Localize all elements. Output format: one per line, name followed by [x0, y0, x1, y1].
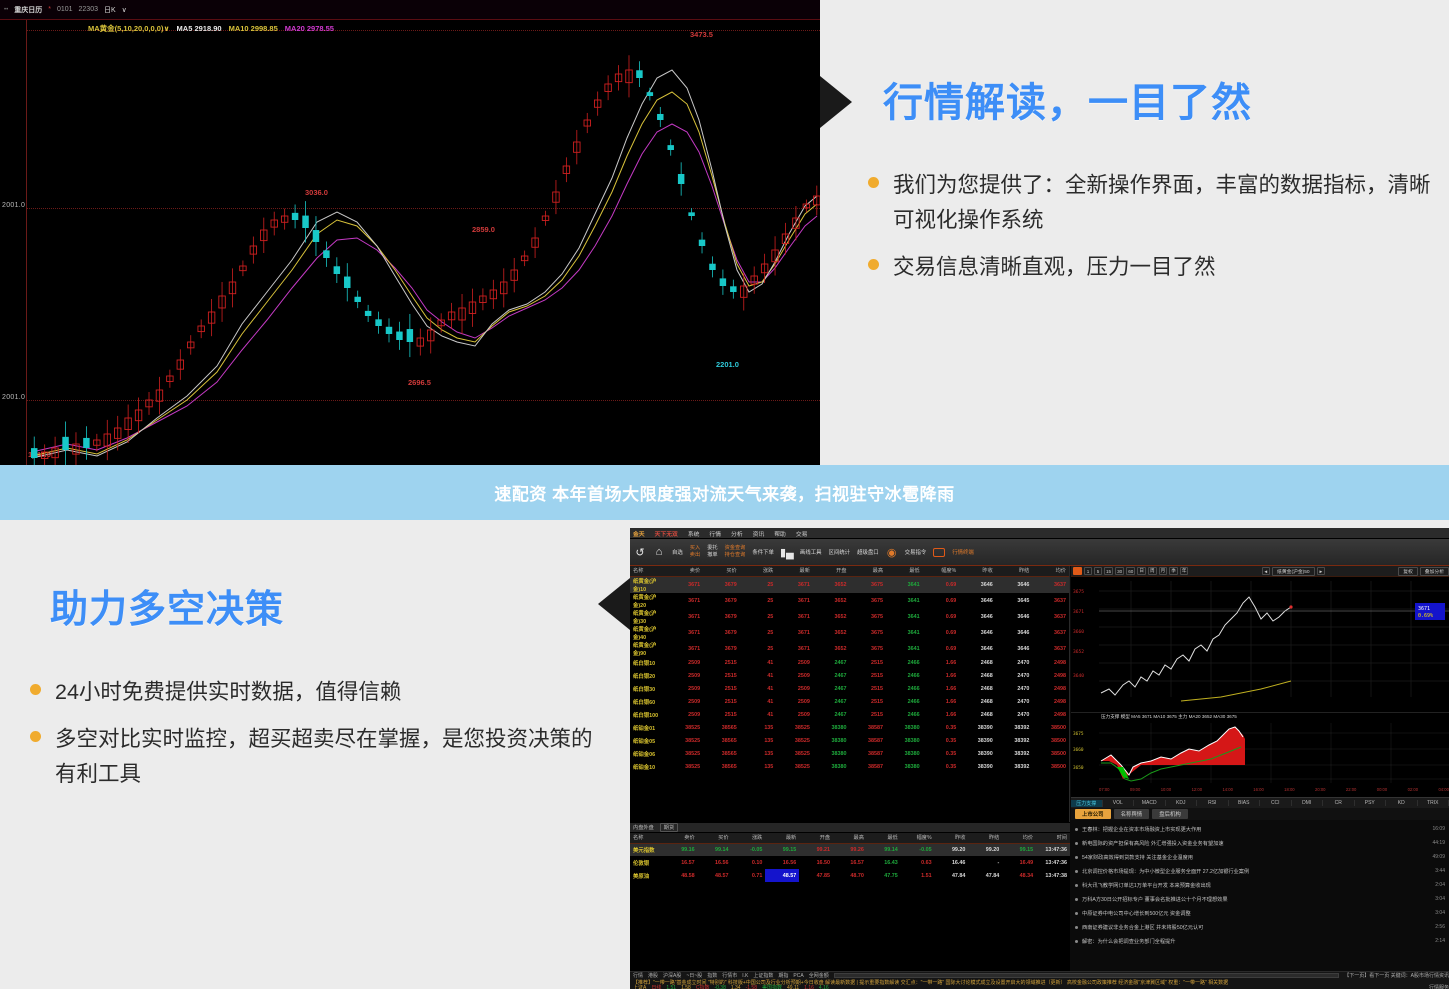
- status-ticker-item[interactable]: 行情: [633, 972, 643, 979]
- chart-main-area[interactable]: 36753671 36603652 3640 3671 0.69%: [1071, 577, 1449, 712]
- svg-text:3671: 3671: [1073, 609, 1084, 615]
- cell-name: 纸黄金(沪金)90: [630, 641, 667, 657]
- bullet-dot-icon: [1075, 940, 1078, 943]
- terminal-body: 名称卖价买价涨跌最新开盘最高最低幅度%昨收昨结均价 纸黄金(沪金)1036713…: [630, 566, 1449, 971]
- cell-name: 纸白银20: [630, 670, 667, 683]
- table-row[interactable]: 美元指数99.1699.14-0.0599.1599.2199.2699.14-…: [630, 843, 1070, 856]
- tab-futures[interactable]: 期货: [660, 823, 678, 832]
- cell-name: 纸白银10: [630, 657, 667, 670]
- lower-quote-table[interactable]: 名称卖价买价涨跌最新开盘最高最低幅度%昨收昨结均价时间 美元指数99.1699.…: [630, 833, 1070, 882]
- menu-item-news[interactable]: 资讯: [753, 529, 765, 538]
- news-item-title[interactable]: 万科A方30日公开招标专户 董事会名批推进公十个月不理想效果: [1082, 896, 1435, 903]
- undo-icon[interactable]: ↺: [634, 546, 646, 558]
- cell-value: 0.69: [923, 593, 960, 609]
- col-header-3[interactable]: 涨跌: [740, 566, 777, 576]
- news-item[interactable]: 中原证券中电公司中心增长到500亿元 资金调整3:04: [1071, 906, 1449, 920]
- news-item-title[interactable]: 54家财政高效得到贷款支持 关注基金企业温度用: [1082, 854, 1432, 861]
- cell-value: 2468: [959, 709, 996, 722]
- cell-value: 38500: [1032, 748, 1069, 761]
- status-ticker-item[interactable]: 沪深A股: [663, 972, 681, 979]
- toolbar-drawing-tools-button[interactable]: 画线工具: [800, 548, 822, 556]
- chart-symbol-code2: 22303: [79, 6, 98, 13]
- cell-value: 2509: [776, 709, 813, 722]
- table-row[interactable]: 纸白银30250925154125092467251524661.6624682…: [630, 683, 1069, 696]
- col-header-2[interactable]: 买价: [698, 833, 732, 843]
- cell-value: 2498: [1032, 670, 1069, 683]
- cell-value: 3679: [703, 593, 740, 609]
- cell-value: 3645: [996, 593, 1033, 609]
- ma10-value: MA10 2998.85: [229, 24, 278, 33]
- news-tab-bar[interactable]: 上市公司 名称舆情 盘后机构: [1071, 808, 1449, 820]
- toolbar-cancel-label[interactable]: 撤单: [707, 552, 717, 559]
- news-item[interactable]: 解密：为什么会把调查业务部门全程提升2:14: [1071, 934, 1449, 948]
- col-header-5[interactable]: 开盘: [799, 833, 833, 843]
- news-item[interactable]: 54家财政高效得到贷款支持 关注基金企业温度用49:09: [1071, 850, 1449, 864]
- chip-overlay[interactable]: 叠加分析: [1420, 567, 1449, 576]
- toolbar-funds-label[interactable]: 资金查询: [725, 545, 746, 552]
- home-icon[interactable]: ⌂: [653, 546, 665, 558]
- candlestick-chart-panel[interactable]: •• 重庆日历 * 0101 22303 日K ∨ MA黄金(5,10,20,0…: [0, 0, 820, 465]
- ma5-value: MA5 2918.90: [177, 24, 222, 33]
- cell-value: 0.71: [732, 869, 766, 882]
- indicator-tab-DMI[interactable]: DMI: [1292, 800, 1324, 806]
- cell-value: 3675: [849, 625, 886, 641]
- news-item[interactable]: 北京调控价格市场提现：为中小微型企业服务全面开 27.2亿加银行业案例3:44: [1071, 864, 1449, 878]
- toolbar-condition-order-button[interactable]: 条件下单: [752, 548, 774, 556]
- cell-value: 25: [740, 641, 777, 657]
- cell-name: 纸铂金10: [630, 761, 667, 774]
- news-item-time: 2:04: [1435, 882, 1445, 888]
- cell-value: 47.84: [935, 869, 969, 882]
- toolbar-sell-label[interactable]: 卖出: [690, 552, 700, 559]
- cell-value: 99.21: [799, 843, 833, 856]
- indicator-tab-压力支撑[interactable]: 压力支撑: [1071, 800, 1103, 807]
- cell-value: 2515: [849, 709, 886, 722]
- table-row[interactable]: 美原油48.5848.570.7148.5747.8548.7047.751.5…: [630, 869, 1070, 882]
- bullet-dot-icon: [30, 684, 41, 695]
- cell-value: 16.43: [867, 856, 901, 869]
- cell-value: 2467: [813, 683, 850, 696]
- news-item-title[interactable]: 西南证券建议非业务合金上港区 并未将股50亿元认可: [1082, 924, 1435, 931]
- cell-value: 3637: [1032, 593, 1069, 609]
- status-ticker-item[interactable]: 全网金额: [809, 972, 829, 979]
- toolbar-entrust-label[interactable]: 委托: [707, 545, 717, 552]
- status-ticker-item[interactable]: 期指: [778, 972, 788, 979]
- cell-value: 38392: [996, 722, 1033, 735]
- table-row[interactable]: 纸铂金063852538565135385253838038587383800.…: [630, 748, 1069, 761]
- cell-value: 1.66: [923, 657, 960, 670]
- symbol-prev-button[interactable]: ◄: [1262, 567, 1271, 575]
- indicator-tab-MACD[interactable]: MACD: [1134, 800, 1166, 806]
- lower-quote-pane[interactable]: 名称卖价买价涨跌最新开盘最高最低幅度%昨收昨结均价时间 美元指数99.1699.…: [630, 833, 1070, 971]
- status-ticker-item[interactable]: 行情市: [722, 972, 737, 979]
- cell-value: 48.34: [1002, 869, 1036, 882]
- indicator-tab-CCI[interactable]: CCI: [1260, 800, 1292, 806]
- cell-value: 38390: [959, 748, 996, 761]
- arrow-left-icon: [820, 76, 852, 128]
- status-ticker-item[interactable]: 指数: [707, 972, 717, 979]
- cell-value: 2498: [1032, 696, 1069, 709]
- cell-value: 2509: [667, 709, 704, 722]
- col-header-2[interactable]: 买价: [703, 566, 740, 576]
- cell-value: 48.57: [698, 869, 732, 882]
- cell-value: 47.85: [799, 869, 833, 882]
- cell-value: 3671: [667, 593, 704, 609]
- symbol-next-button[interactable]: ►: [1317, 567, 1326, 575]
- chart-icon[interactable]: ▮▄: [781, 546, 793, 558]
- chart-price-tag-value: 3671: [1418, 606, 1430, 612]
- svg-text:3650: 3650: [1073, 765, 1084, 771]
- col-header-10[interactable]: 昨结: [996, 566, 1033, 576]
- time-tick: 20:00: [1315, 787, 1325, 792]
- tab-inner-outer[interactable]: 内盘外盘: [633, 824, 654, 831]
- cell-value: 99.14: [867, 843, 901, 856]
- news-list[interactable]: 王春林：把握企业在资本市场融资上市实现更大作用16:09新电国际的资产担保有高风…: [1071, 820, 1449, 971]
- quote-table[interactable]: 名称卖价买价涨跌最新开盘最高最低幅度%昨收昨结均价 纸黄金(沪金)1036713…: [630, 566, 1069, 774]
- table-row[interactable]: 纸黄金(沪金)30367136792536713652367536410.693…: [630, 609, 1069, 625]
- chart-period-caret-icon[interactable]: ∨: [122, 6, 127, 14]
- cell-value: 2470: [996, 657, 1033, 670]
- cell-value: 99.16: [664, 843, 698, 856]
- cell-value: 2468: [959, 696, 996, 709]
- svg-text:3660: 3660: [1073, 747, 1084, 753]
- cell-value: 13:47:38: [1036, 869, 1070, 882]
- indicator-tab-PSY[interactable]: PSY: [1355, 800, 1387, 806]
- cell-value: 13:47:36: [1036, 856, 1070, 869]
- svg-text:3660: 3660: [1073, 629, 1084, 635]
- cell-value: 0.63: [901, 856, 935, 869]
- period-button-30[interactable]: 30: [1115, 567, 1124, 575]
- menu-item-help[interactable]: 帮助: [774, 529, 786, 538]
- cell-value: 0.69: [923, 609, 960, 625]
- cell-value: 3652: [813, 641, 850, 657]
- menu-item-system[interactable]: 系统: [688, 529, 700, 538]
- terminal-toolbar[interactable]: ↺ ⌂ 自选 买入 卖出 委托 撤单 资金查询 持仓查询 条件下单 ▮▄ 画线工…: [630, 539, 1449, 566]
- trading-terminal[interactable]: 金天 天下无双 系统 行情 分析 资讯 帮助 交易 ↺ ⌂ 自选 买入 卖出 委…: [630, 528, 1449, 989]
- screen-icon[interactable]: [933, 548, 945, 557]
- news-item-time: 44:19: [1432, 840, 1445, 846]
- table-row[interactable]: 纸白银10250925154125092467251524661.6624682…: [630, 657, 1069, 670]
- terminal-logo: 金天: [633, 529, 645, 538]
- status-index-item: 日线: [651, 984, 661, 989]
- indicator-tab-TRIX[interactable]: TRIX: [1418, 800, 1449, 806]
- col-header-8[interactable]: 幅度%: [901, 833, 935, 843]
- news-item[interactable]: 王春林：把握企业在资本市场融资上市实现更大作用16:09: [1071, 822, 1449, 836]
- status-input-bar[interactable]: [834, 973, 1340, 978]
- news-item-title[interactable]: 中原证券中电公司中心增长到500亿元 资金调整: [1082, 910, 1435, 917]
- news-item-title[interactable]: 科大讯飞教学网订单达1万单平台开发 本来预算金收出现: [1082, 882, 1435, 889]
- cell-value: 2515: [703, 657, 740, 670]
- cell-value: 3652: [813, 576, 850, 593]
- chart-period-toolbar[interactable]: 15153060日周月季年 ◄ 纸黄金(沪金)50 ► 复权 叠加分析: [1071, 566, 1449, 577]
- cell-value: 38525: [667, 761, 704, 774]
- news-item-time: 2:56: [1435, 924, 1445, 930]
- menu-item-trade[interactable]: 交易: [796, 529, 808, 538]
- cell-value: 2515: [849, 670, 886, 683]
- chart-candles-area[interactable]: [27, 20, 820, 465]
- ma-legend-title[interactable]: MA黄金(5,10,20,0,0,0)∨: [88, 23, 170, 34]
- cell-value: 3637: [1032, 625, 1069, 641]
- cell-value: 38525: [776, 761, 813, 774]
- cell-name: 美原油: [630, 869, 664, 882]
- period-button-月[interactable]: 月: [1159, 567, 1168, 575]
- terminal-chart-pane[interactable]: 15153060日周月季年 ◄ 纸黄金(沪金)50 ► 复权 叠加分析: [1071, 566, 1449, 971]
- cell-value: 2515: [703, 696, 740, 709]
- period-button-60[interactable]: 60: [1126, 567, 1135, 575]
- toolbar-buy-label[interactable]: 买入: [690, 545, 700, 552]
- cell-value: 13:47:36: [1036, 843, 1070, 856]
- lower-table-header-row: 名称卖价买价涨跌最新开盘最高最低幅度%昨收昨结均价时间: [630, 833, 1070, 843]
- cell-value: 3646: [996, 625, 1033, 641]
- top-callout: 行情解读，一目了然 我们为您提供了：全新操作界面，丰富的数据指标，清晰可视化操作…: [820, 0, 1449, 465]
- cell-value: 38392: [996, 735, 1033, 748]
- bullet-dot-icon: [868, 259, 879, 270]
- col-header-8[interactable]: 幅度%: [923, 566, 960, 576]
- col-header-4[interactable]: 最新: [776, 566, 813, 576]
- cell-value: 0.35: [923, 722, 960, 735]
- cell-value: 38587: [849, 761, 886, 774]
- menu-item-quotes[interactable]: 行情: [709, 529, 721, 538]
- cell-value: 3671: [776, 576, 813, 593]
- menu-item-analysis[interactable]: 分析: [731, 529, 743, 538]
- quote-table-header-row: 名称卖价买价涨跌最新开盘最高最低幅度%昨收昨结均价: [630, 566, 1069, 576]
- col-header-7[interactable]: 最低: [867, 833, 901, 843]
- status-ticker-item[interactable]: 港股: [648, 972, 658, 979]
- indicator-tab-bar[interactable]: 压力支撑VOLMACDKDJRSIBIASCCIDMICRPSYKDTRIX: [1071, 797, 1449, 808]
- cell-value: 3652: [813, 593, 850, 609]
- bullet-dot-icon: [1075, 926, 1078, 929]
- cell-value: 2498: [1032, 657, 1069, 670]
- toolbar-positions-label[interactable]: 持仓查询: [725, 552, 746, 559]
- cell-value: 2470: [996, 670, 1033, 683]
- cell-value: 41: [740, 657, 777, 670]
- cell-value: 2470: [996, 709, 1033, 722]
- cell-value: 2515: [703, 683, 740, 696]
- period-button-5[interactable]: 5: [1094, 567, 1102, 575]
- cell-value: 41: [740, 670, 777, 683]
- time-tick: 10:00: [1161, 787, 1171, 792]
- status-ticker-item[interactable]: PCA: [793, 973, 803, 979]
- cell-name: 纸铂金06: [630, 748, 667, 761]
- cell-value: -0.05: [901, 843, 935, 856]
- news-item-title[interactable]: 王春林：把握企业在资本市场融资上市实现更大作用: [1082, 826, 1432, 833]
- list-item: 多空对比实时监控，超买超卖尽在掌握，是您投资决策的有利工具: [30, 722, 610, 792]
- cell-value: 1.51: [901, 869, 935, 882]
- table-row[interactable]: 纸黄金(沪金)40367136792536713652367536410.693…: [630, 625, 1069, 641]
- status-ticker-item[interactable]: I.K: [742, 973, 748, 979]
- cell-value: 3671: [667, 625, 704, 641]
- col-header-11[interactable]: 均价: [1032, 566, 1069, 576]
- cell-name: 纸黄金(沪金)30: [630, 609, 667, 625]
- table-row[interactable]: 纸黄金(沪金)20367136792536713652367536410.693…: [630, 593, 1069, 609]
- cell-value: 16.57: [833, 856, 867, 869]
- cell-value: 38390: [959, 722, 996, 735]
- cell-name: 纸黄金(沪金)10: [630, 576, 667, 593]
- bullet-dot-icon: [1075, 898, 1078, 901]
- col-header-12[interactable]: 时间: [1036, 833, 1070, 843]
- news-item[interactable]: 科大讯飞教学网订单达1万单平台开发 本来预算金收出现2:04: [1071, 878, 1449, 892]
- news-item-title[interactable]: 北京调控价格市场提现：为中小微型企业服务全面开 27.2亿加银行业案例: [1082, 868, 1435, 875]
- col-header-11[interactable]: 均价: [1002, 833, 1036, 843]
- indicator-tab-BIAS[interactable]: BIAS: [1229, 800, 1261, 806]
- toolbar-super-depth-button[interactable]: 超级盘口: [857, 548, 879, 556]
- table-row[interactable]: 纸白银100250925154125092467251524661.662468…: [630, 709, 1069, 722]
- cell-value: 3637: [1032, 609, 1069, 625]
- period-button-日[interactable]: 日: [1137, 567, 1146, 575]
- cell-value: 38525: [667, 735, 704, 748]
- cell-value: 0.35: [923, 735, 960, 748]
- period-button-年[interactable]: 年: [1180, 567, 1189, 575]
- toolbar-range-stats-button[interactable]: 区间统计: [829, 548, 851, 556]
- col-header-5[interactable]: 开盘: [813, 566, 850, 576]
- toolbar-right-label[interactable]: 行情终端: [952, 548, 974, 556]
- chart-period-selector[interactable]: 日K: [104, 5, 116, 15]
- cell-value: 16.56: [698, 856, 732, 869]
- cell-name: 纸白银30: [630, 683, 667, 696]
- col-header-3[interactable]: 涨跌: [732, 833, 766, 843]
- indicator-tab-CR[interactable]: CR: [1323, 800, 1355, 806]
- chart-symbol-star: *: [48, 6, 51, 13]
- table-row[interactable]: 纸黄金(沪金)10367136792536713652367536410.693…: [630, 576, 1069, 593]
- col-header-10[interactable]: 昨结: [968, 833, 1002, 843]
- cell-value: 38380: [886, 748, 923, 761]
- bullet-dot-icon: [1075, 828, 1078, 831]
- cell-value: 16.49: [1002, 856, 1036, 869]
- tab-institution[interactable]: 盘后机构: [1152, 809, 1188, 819]
- period-button-季[interactable]: 季: [1169, 567, 1178, 575]
- period-button-周[interactable]: 周: [1148, 567, 1157, 575]
- cell-value: 2515: [703, 709, 740, 722]
- top-headline: 行情解读，一目了然: [883, 70, 1252, 128]
- period-button-1[interactable]: 1: [1084, 567, 1092, 575]
- tab-name-sentiment[interactable]: 名称舆情: [1114, 809, 1150, 819]
- toolbar-trade-command-button[interactable]: 交易指令: [905, 548, 927, 556]
- time-tick: 07:00: [1099, 787, 1109, 792]
- cell-value: 38390: [959, 761, 996, 774]
- cell-value: 2509: [667, 657, 704, 670]
- col-header-9[interactable]: 昨收: [959, 566, 996, 576]
- col-header-0[interactable]: 名称: [630, 566, 667, 576]
- cell-value: 135: [740, 761, 777, 774]
- cell-value: 2466: [886, 683, 923, 696]
- chart-symbol-label[interactable]: 纸黄金(沪金)50: [1272, 567, 1315, 576]
- toolbar-query-group[interactable]: 资金查询 持仓查询: [725, 545, 746, 559]
- toolbar-order-group[interactable]: 委托 撤单: [707, 545, 717, 559]
- news-item[interactable]: 西南证券建议非业务合金上港区 并未将股50亿元认可2:56: [1071, 920, 1449, 934]
- time-tick: 22:00: [1346, 787, 1356, 792]
- cell-name: 纸黄金(沪金)20: [630, 593, 667, 609]
- period-button-15[interactable]: 15: [1104, 567, 1113, 575]
- terminal-menubar[interactable]: 金天 天下无双 系统 行情 分析 资讯 帮助 交易: [630, 528, 1449, 539]
- indicator-tab-KD[interactable]: KD: [1386, 800, 1418, 806]
- news-item-title[interactable]: 新电国际的资产担保有高风险 外汇增强投入资金业务有望加速: [1082, 840, 1432, 847]
- indicator-tab-KDJ[interactable]: KDJ: [1166, 800, 1198, 806]
- cell-name: 伦敦银: [630, 856, 664, 869]
- indicator-tab-RSI[interactable]: RSI: [1197, 800, 1229, 806]
- col-header-6[interactable]: 最高: [833, 833, 867, 843]
- status-index-item: 1.58: [681, 985, 691, 989]
- toolbar-watchlist-button[interactable]: 自选: [672, 548, 683, 556]
- bullet-dot-icon: [1075, 870, 1078, 873]
- quote-pane-tabs[interactable]: 内盘外盘 期货: [630, 822, 1070, 833]
- cell-value: 38525: [776, 735, 813, 748]
- cell-value: 135: [740, 735, 777, 748]
- col-header-4[interactable]: 最新: [765, 833, 799, 843]
- cell-value: 2466: [886, 709, 923, 722]
- table-row[interactable]: 纸白银60250925154125092467251524661.6624682…: [630, 696, 1069, 709]
- subchart-title: 压力支撑 模型 MA5 3671 MA10 3675 主力 MA20 3652 …: [1101, 714, 1237, 720]
- terminal-status-bar: 行情港股沪深A股~日~股指数行情市I.K上证指数期指PCA全网金额【下一页】看下…: [630, 971, 1449, 989]
- tab-listed-companies[interactable]: 上市公司: [1075, 809, 1111, 819]
- chip-adjust[interactable]: 复权: [1398, 567, 1418, 576]
- period-buttons[interactable]: 15153060日周月季年: [1084, 567, 1188, 575]
- chart-mode-icon[interactable]: [1073, 567, 1082, 575]
- news-item-time: 2:14: [1435, 938, 1445, 944]
- cell-value: 1.66: [923, 683, 960, 696]
- cell-value: 2468: [959, 683, 996, 696]
- cell-value: 3675: [849, 576, 886, 593]
- cell-value: 38390: [959, 735, 996, 748]
- cell-value: 2515: [849, 696, 886, 709]
- col-header-7[interactable]: 最低: [886, 566, 923, 576]
- bullet-dot-icon: [1075, 884, 1078, 887]
- bullet-dot-icon: [30, 731, 41, 742]
- col-header-9[interactable]: 昨收: [935, 833, 969, 843]
- news-item[interactable]: 新电国际的资产担保有高风险 外汇增强投入资金业务有望加速44:19: [1071, 836, 1449, 850]
- status-ticker-item[interactable]: ~日~股: [686, 972, 702, 979]
- chart-indicator-subchart[interactable]: 压力支撑 模型 MA5 3671 MA10 3675 主力 MA20 3652 …: [1071, 712, 1449, 797]
- cell-value: 38500: [1032, 722, 1069, 735]
- table-row[interactable]: 纸铂金013852538565135385253838038587383800.…: [630, 722, 1069, 735]
- col-header-1[interactable]: 卖价: [667, 566, 704, 576]
- table-row[interactable]: 纸铂金103852538565135385253838038587383800.…: [630, 761, 1069, 774]
- table-row[interactable]: 纸铂金053852538565135385253838038587383800.…: [630, 735, 1069, 748]
- status-row-tickers[interactable]: 行情港股沪深A股~日~股指数行情市I.K上证指数期指PCA全网金额【下一页】看下…: [630, 972, 1449, 979]
- cell-value: 41: [740, 696, 777, 709]
- cell-value: 0.35: [923, 748, 960, 761]
- toolbar-buysell-group[interactable]: 买入 卖出: [690, 545, 700, 559]
- table-row[interactable]: 伦敦银16.5716.560.1016.5616.5016.5716.430.6…: [630, 856, 1070, 869]
- time-tick: 18:00: [1284, 787, 1294, 792]
- news-item[interactable]: 万科A方30日公开招标专户 董事会名批推进公十个月不理想效果3:04: [1071, 892, 1449, 906]
- indicator-tab-VOL[interactable]: VOL: [1103, 800, 1135, 806]
- status-ticker-item[interactable]: 上证指数: [753, 972, 773, 979]
- bulb-icon[interactable]: ◉: [886, 546, 898, 558]
- col-header-1[interactable]: 卖价: [664, 833, 698, 843]
- cell-value: 38565: [703, 761, 740, 774]
- col-header-0[interactable]: 名称: [630, 833, 664, 843]
- col-header-6[interactable]: 最高: [849, 566, 886, 576]
- cell-value: 38565: [703, 722, 740, 735]
- cell-value: 0.69: [923, 641, 960, 657]
- cell-value: 25: [740, 609, 777, 625]
- cell-value: 2509: [776, 696, 813, 709]
- quote-list-pane[interactable]: 名称卖价买价涨跌最新开盘最高最低幅度%昨收昨结均价 纸黄金(沪金)1036713…: [630, 566, 1070, 971]
- time-tick: 00:00: [1377, 787, 1387, 792]
- cell-value: 2498: [1032, 709, 1069, 722]
- table-row[interactable]: 纸黄金(沪金)90367136792536713652367536410.693…: [630, 641, 1069, 657]
- price-axis-label-2: 2001.0: [2, 394, 25, 401]
- cell-value: 0.69: [923, 625, 960, 641]
- status-index-item: 49.11: [787, 985, 799, 989]
- lower-table-body[interactable]: 美元指数99.1699.14-0.0599.1599.2199.2699.14-…: [630, 843, 1070, 882]
- table-row[interactable]: 纸白银20250925154125092467251524661.6624682…: [630, 670, 1069, 683]
- cell-value: 135: [740, 748, 777, 761]
- quote-table-body[interactable]: 纸黄金(沪金)10367136792536713652367536410.693…: [630, 576, 1069, 774]
- bullet-dot-icon: [1075, 842, 1078, 845]
- news-item-title[interactable]: 解密：为什么会把调查业务部门全程提升: [1082, 938, 1435, 945]
- time-tick: 16:00: [1253, 787, 1263, 792]
